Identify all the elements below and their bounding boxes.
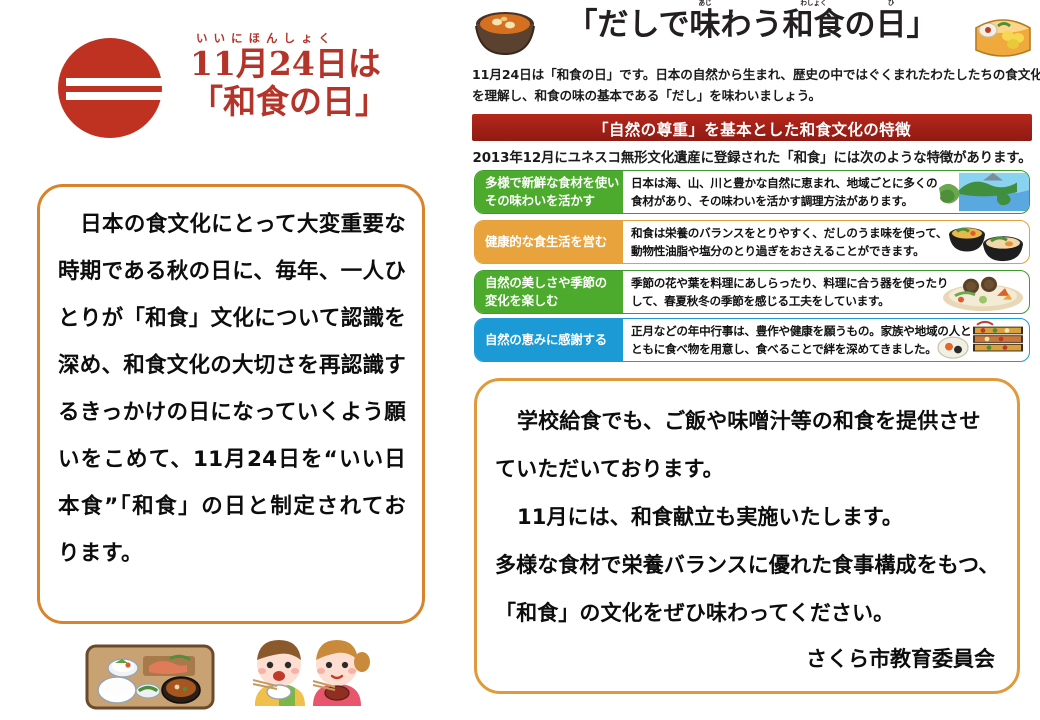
logo-text-group: いいにほんしょく 11月24日は 「和食の日」 bbox=[190, 32, 440, 121]
left-message-text: 日本の食文化にとって大変重要な時期である秋の日に、毎年、一人ひとりが「和食」文化… bbox=[58, 201, 406, 577]
ruby-aji: あじ bbox=[698, 0, 711, 7]
intro-line-2: を理解し、和食の味の基本である「だし」を味わいましょう。 bbox=[472, 85, 1032, 106]
feature-4-body-line-1: 正月などの年中行事は、豊作や健康を願うもの。家族や地域の人と bbox=[631, 322, 943, 340]
feature-2-body: 和食は栄養のバランスをとりやすく、だしのうま味を使って、 動物性油脂や塩分のとり… bbox=[631, 221, 943, 263]
children-eating-illustration bbox=[233, 636, 393, 716]
right-column: 「だしであじ味わうわしょく和食のひ日」 11月24日は「和食の日」です。日本の自… bbox=[462, 0, 1040, 720]
signature: さくら市教育委員会 bbox=[495, 639, 1001, 679]
left-message-box: 日本の食文化にとって大変重要な時期である秋の日に、毎年、一人ひとりが「和食」文化… bbox=[37, 184, 425, 624]
feature-2-body-line-2: 動物性油脂や塩分のとり過ぎをおさえることができます。 bbox=[631, 242, 943, 260]
feature-3-body-line-2: して、春夏秋冬の季節を感じる工夫をしています。 bbox=[631, 292, 943, 310]
red-banner-subtitle: 2013年12月にユネスコ無形文化遺産に登録された「和食」には次のような特徴があ… bbox=[472, 146, 1032, 166]
miso-soup-bowl-illustration bbox=[470, 6, 540, 62]
feature-4-body-line-2: ともに食べ物を用意し、食べることで絆を深めてきました。 bbox=[631, 340, 943, 358]
feature-1-label-line-1: 多様で新鮮な食材を使い bbox=[485, 174, 623, 192]
feature-3-body-line-1: 季節の花や葉を料理にあしらったり、料理に合う器を使ったり bbox=[631, 274, 943, 292]
header-title: 「だしであじ味わうわしょく和食のひ日」 bbox=[550, 8, 954, 43]
feature-2-label-line-1: 健康的な食生活を営む bbox=[485, 233, 623, 251]
intro-line-1: 11月24日は「和食の日」です。日本の自然から生まれ、歴史の中ではぐくまれたわた… bbox=[472, 64, 1032, 85]
feature-row-3: 自然の美しさや季節の 変化を楽しむ 季節の花や葉を料理にあしらったり、料理に合う… bbox=[474, 270, 1030, 314]
feature-3-label-line-2: 変化を楽しむ bbox=[485, 292, 623, 310]
seasonal-dish-illustration bbox=[937, 271, 1029, 313]
feature-1-body-line-1: 日本は海、山、川と豊かな自然に恵まれ、地域ごとに多くの bbox=[631, 174, 943, 192]
ruby-hi: ひ bbox=[888, 0, 895, 7]
washoku-day-chopstick-circle-logo bbox=[54, 34, 176, 142]
red-banner-title: 「自然の尊重」を基本とした和食文化の特徴 bbox=[472, 118, 1032, 140]
feature-1-label: 多様で新鮮な食材を使い その味わいを活かす bbox=[475, 171, 623, 213]
feature-1-label-line-2: その味わいを活かす bbox=[485, 192, 623, 210]
feature-4-body: 正月などの年中行事は、豊作や健康を願うもの。家族や地域の人と ともに食べ物を用意… bbox=[631, 319, 943, 361]
note-box: 学校給食でも、ご飯や味噌汁等の和食を提供させていただいております。 11月には、… bbox=[474, 378, 1020, 694]
logo-ruby: いいにほんしょく bbox=[196, 32, 440, 45]
intro-paragraph: 11月24日は「和食の日」です。日本の自然から生まれ、歴史の中ではぐくまれたわた… bbox=[472, 64, 1032, 106]
feature-4-label: 自然の恵みに感謝する bbox=[475, 319, 623, 361]
washoku-day-logo: いいにほんしょく 11月24日は 「和食の日」 bbox=[42, 24, 442, 154]
feature-1-body-line-2: 食材があり、その味わいを活かす調理方法があります。 bbox=[631, 192, 943, 210]
poster-header: 「だしであじ味わうわしょく和食のひ日」 bbox=[464, 4, 1040, 62]
feature-3-label: 自然の美しさや季節の 変化を楽しむ bbox=[475, 271, 623, 313]
japan-map-landscape-illustration bbox=[937, 171, 1029, 213]
document-page: いいにほんしょく 11月24日は 「和食の日」 日本の食文化にとって大変重要な時… bbox=[0, 0, 1040, 720]
header-title-group: 「だしであじ味わうわしょく和食のひ日」 bbox=[550, 8, 954, 43]
soup-bowls-illustration bbox=[937, 221, 1029, 263]
note-paragraph-1: 学校給食でも、ご飯や味噌汁等の和食を提供させていただいております。 bbox=[495, 397, 1001, 493]
japanese-meal-tray-illustration bbox=[85, 638, 215, 714]
osechi-box-illustration bbox=[937, 319, 1029, 361]
bento-box-illustration bbox=[968, 6, 1038, 62]
logo-line-2: 「和食の日」 bbox=[190, 83, 440, 121]
feature-row-1: 多様で新鮮な食材を使い その味わいを活かす 日本は海、山、川と豊かな自然に恵まれ… bbox=[474, 170, 1030, 214]
feature-2-label: 健康的な食生活を営む bbox=[475, 221, 623, 263]
note-paragraph-2: 11月には、和食献立も実施いたします。 bbox=[495, 493, 1001, 541]
feature-1-body: 日本は海、山、川と豊かな自然に恵まれ、地域ごとに多くの 食材があり、その味わいを… bbox=[631, 171, 943, 213]
feature-row-4: 自然の恵みに感謝する 正月などの年中行事は、豊作や健康を願うもの。家族や地域の人… bbox=[474, 318, 1030, 362]
logo-line-1: 11月24日は bbox=[190, 46, 440, 83]
feature-3-label-line-1: 自然の美しさや季節の bbox=[485, 274, 623, 292]
note-paragraph-3: 多様な食材で栄養バランスに優れた食事構成をもつ、「和食」の文化をぜひ味わってくだ… bbox=[495, 541, 1001, 637]
left-column: いいにほんしょく 11月24日は 「和食の日」 日本の食文化にとって大変重要な時… bbox=[0, 0, 462, 720]
feature-row-2: 健康的な食生活を営む 和食は栄養のバランスをとりやすく、だしのうま味を使って、 … bbox=[474, 220, 1030, 264]
feature-3-body: 季節の花や葉を料理にあしらったり、料理に合う器を使ったり して、春夏秋冬の季節を… bbox=[631, 271, 943, 313]
ruby-washoku: わしょく bbox=[800, 0, 826, 7]
feature-2-body-line-1: 和食は栄養のバランスをとりやすく、だしのうま味を使って、 bbox=[631, 224, 943, 242]
red-banner: 「自然の尊重」を基本とした和食文化の特徴 bbox=[472, 114, 1032, 141]
feature-4-label-line-1: 自然の恵みに感謝する bbox=[485, 331, 623, 349]
bottom-illustrations bbox=[85, 636, 395, 716]
